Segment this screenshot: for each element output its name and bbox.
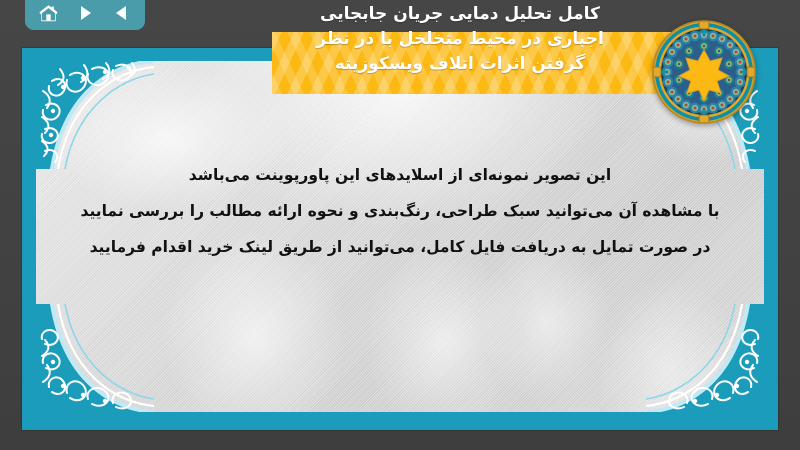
arrow-left-icon (113, 4, 131, 22)
arrow-right-icon (76, 4, 94, 22)
slide-body-text: این تصویر نمونه‌ای از اسلایدهای این پاور… (76, 157, 724, 265)
ornament-corner-top-left (36, 61, 154, 169)
body-line-1: این تصویر نمونه‌ای از اسلایدهای این پاور… (76, 157, 724, 193)
back-button[interactable] (109, 1, 135, 25)
ornament-corner-bottom-right (646, 304, 764, 412)
ornament-corner-bottom-left (36, 304, 154, 412)
title-band (272, 32, 702, 94)
forward-button[interactable] (72, 1, 98, 25)
navigation-bar (25, 0, 145, 30)
home-button[interactable] (35, 1, 61, 25)
body-line-3: در صورت تمایل به دریافت فایل کامل، می‌تو… (76, 229, 724, 265)
home-icon (38, 4, 59, 23)
presentation-viewer: این تصویر نمونه‌ای از اسلایدهای این پاور… (0, 0, 800, 450)
title-line-1: کامل تحلیل دمایی جریان جابجایی (250, 2, 670, 27)
medallion-ornament-icon (652, 20, 756, 124)
body-line-2: با مشاهده آن می‌توانید سبک طراحی، رنگ‌بن… (76, 193, 724, 229)
